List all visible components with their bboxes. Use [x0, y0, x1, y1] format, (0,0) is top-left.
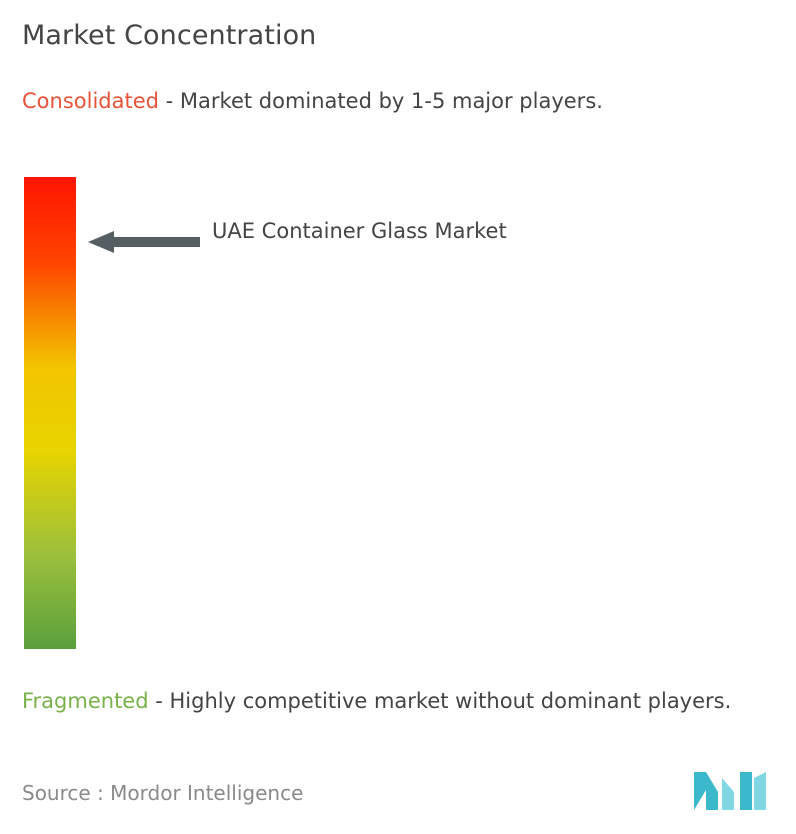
- source-text: Source : Mordor Intelligence: [22, 781, 303, 805]
- consolidated-label: Consolidated: [22, 89, 159, 113]
- fragmented-description: - Highly competitive market without domi…: [155, 689, 731, 713]
- concentration-gradient-bar: [24, 177, 76, 649]
- market-callout-label: UAE Container Glass Market: [212, 215, 612, 248]
- market-concentration-chart: Market Concentration Consolidated - Mark…: [0, 0, 796, 834]
- mordor-intelligence-logo-icon: [692, 768, 768, 812]
- consolidated-legend: Consolidated - Market dominated by 1-5 m…: [22, 86, 762, 117]
- fragmented-legend: Fragmented - Highly competitive market w…: [22, 686, 782, 717]
- consolidated-description: - Market dominated by 1-5 major players.: [166, 89, 603, 113]
- page-title: Market Concentration: [22, 20, 316, 51]
- market-position-arrow-icon: [88, 231, 200, 253]
- fragmented-label: Fragmented: [22, 689, 149, 713]
